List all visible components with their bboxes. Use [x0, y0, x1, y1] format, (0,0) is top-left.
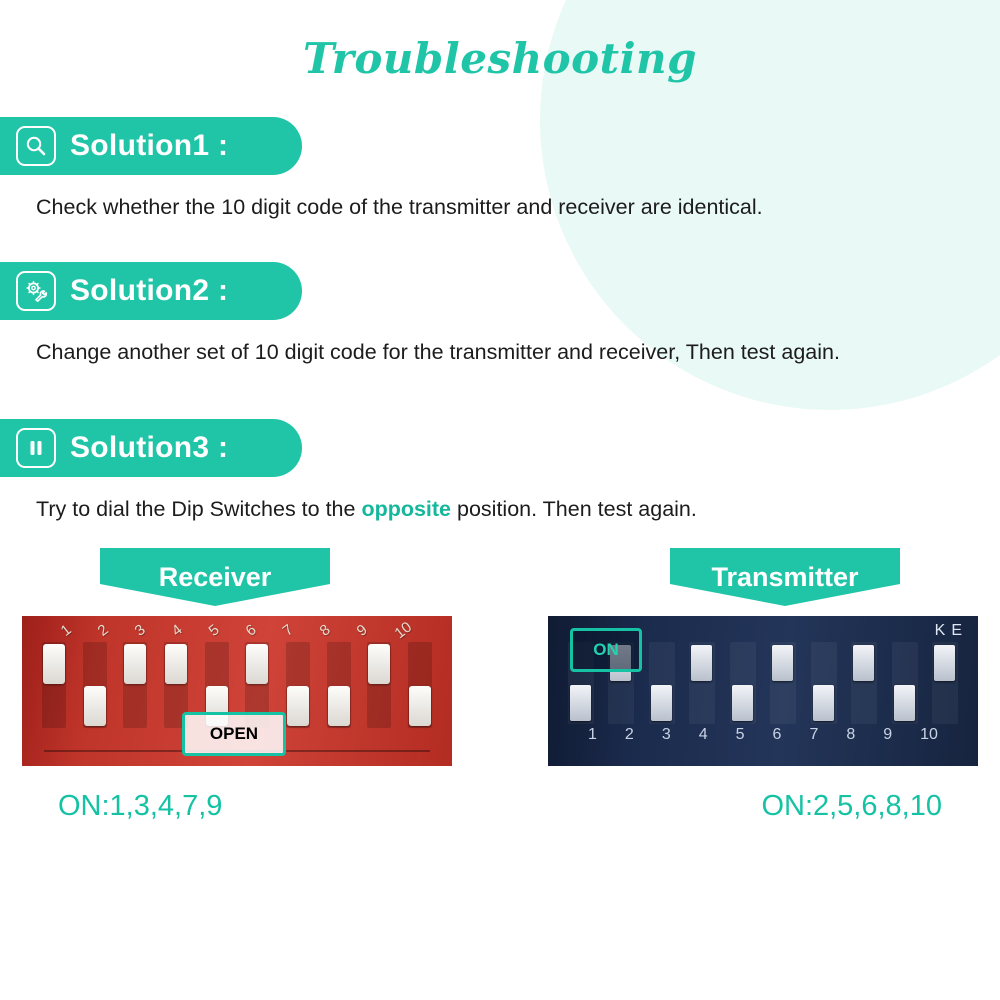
switch-knob: [43, 644, 65, 684]
receiver-number: 7: [280, 621, 297, 640]
transmitter-number: 10: [920, 726, 938, 744]
switch-knob: [894, 685, 915, 721]
receiver-number: 8: [317, 621, 334, 640]
receiver-number: 1: [58, 621, 75, 640]
switch-knob: [287, 686, 309, 726]
receiver-switch-9: [367, 642, 391, 728]
device-caption-row: ON:1,3,4,7,9 ON:2,5,6,8,10: [0, 790, 1000, 823]
receiver-number: 5: [206, 621, 223, 640]
receiver-number: 4: [169, 621, 186, 640]
receiver-ribbon-label: Receiver: [159, 562, 272, 593]
transmitter-ribbon: Transmitter: [670, 548, 900, 606]
receiver-switch-7: [286, 642, 310, 728]
troubleshooting-page: Troubleshooting Solution1 : Check whethe…: [0, 0, 1000, 1000]
on-callout-label: ON: [593, 640, 619, 660]
switch-knob: [691, 645, 712, 681]
switch-knob: [246, 644, 268, 684]
transmitter-number: 1: [588, 726, 597, 744]
switch-knob: [651, 685, 672, 721]
receiver-dip-switch-photo: 1 2 3 4 5 6 7 8 9 10: [22, 616, 452, 766]
solution-2-body: Change another set of 10 digit code for …: [0, 320, 1000, 369]
device-photo-row: 1 2 3 4 5 6 7 8 9 10: [0, 616, 1000, 766]
receiver-switch-2: [83, 642, 107, 728]
transmitter-number: 2: [625, 726, 634, 744]
solution-3-highlight: opposite: [361, 497, 451, 521]
solution-2-label: Solution2 :: [70, 274, 228, 308]
transmitter-switch-8: [851, 642, 877, 724]
transmitter-switch-7: [811, 642, 837, 724]
receiver-number: 6: [243, 621, 260, 640]
solution-2-text: Change another set of 10 digit code for …: [36, 340, 840, 364]
solution-3-label: Solution3 :: [70, 431, 228, 465]
open-callout: OPEN: [182, 712, 286, 756]
switch-knob: [84, 686, 106, 726]
receiver-number-row: 1 2 3 4 5 6 7 8 9 10: [22, 622, 452, 639]
gear-wrench-icon: [16, 271, 56, 311]
solution-1-body: Check whether the 10 digit code of the t…: [0, 175, 1000, 224]
transmitter-caption: ON:2,5,6,8,10: [761, 790, 942, 823]
transmitter-number: 5: [736, 726, 745, 744]
switch-knob: [368, 644, 390, 684]
receiver-switch-1: [42, 642, 66, 728]
switch-knob: [409, 686, 431, 726]
solution-3-body: Try to dial the Dip Switches to the oppo…: [0, 477, 1000, 526]
solution-1-banner: Solution1 :: [0, 117, 302, 175]
open-callout-label: OPEN: [210, 724, 258, 744]
transmitter-number: 6: [773, 726, 782, 744]
pause-bars-icon: [16, 428, 56, 468]
transmitter-number: 8: [846, 726, 855, 744]
magnifier-icon: [16, 126, 56, 166]
switch-knob: [853, 645, 874, 681]
receiver-switch-3: [123, 642, 147, 728]
solution-3-text-before: Try to dial the Dip Switches to the: [36, 497, 361, 521]
solution-3-text-after: position. Then test again.: [451, 497, 697, 521]
solution-1-text: Check whether the 10 digit code of the t…: [36, 195, 763, 219]
transmitter-switch-10: [932, 642, 958, 724]
solution-1-label: Solution1 :: [70, 129, 228, 163]
receiver-number: 10: [391, 619, 415, 643]
transmitter-number: 9: [883, 726, 892, 744]
device-ribbon-row: Receiver Transmitter: [0, 548, 1000, 606]
receiver-ribbon: Receiver: [100, 548, 330, 606]
receiver-number: 3: [132, 621, 149, 640]
transmitter-switch-4: [689, 642, 715, 724]
switch-knob: [570, 685, 591, 721]
solution-2-banner: Solution2 :: [0, 262, 302, 320]
transmitter-dip-switch-photo: KE 1 2 3 4 5: [548, 616, 978, 766]
transmitter-number: 7: [809, 726, 818, 744]
on-callout: ON: [570, 628, 642, 672]
receiver-caption: ON:1,3,4,7,9: [58, 790, 222, 823]
receiver-number: 9: [354, 621, 371, 640]
switch-knob: [124, 644, 146, 684]
transmitter-switch-9: [892, 642, 918, 724]
switch-knob: [328, 686, 350, 726]
transmitter-switch-5: [730, 642, 756, 724]
transmitter-number-row: 1 2 3 4 5 6 7 8 9 10: [548, 726, 978, 744]
solution-3-banner: Solution3 :: [0, 419, 302, 477]
receiver-number: 2: [95, 621, 112, 640]
page-title: Troubleshooting: [0, 0, 1000, 83]
switch-knob: [772, 645, 793, 681]
page-content: Troubleshooting Solution1 : Check whethe…: [0, 0, 1000, 823]
transmitter-number: 4: [699, 726, 708, 744]
transmitter-brand-mark: KE: [935, 622, 968, 640]
switch-knob: [934, 645, 955, 681]
transmitter-switch-6: [770, 642, 796, 724]
switch-knob: [165, 644, 187, 684]
transmitter-number: 3: [662, 726, 671, 744]
transmitter-switch-3: [649, 642, 675, 724]
receiver-switch-8: [327, 642, 351, 728]
switch-knob: [813, 685, 834, 721]
switch-knob: [732, 685, 753, 721]
receiver-switch-10: [408, 642, 432, 728]
transmitter-ribbon-label: Transmitter: [711, 562, 858, 593]
